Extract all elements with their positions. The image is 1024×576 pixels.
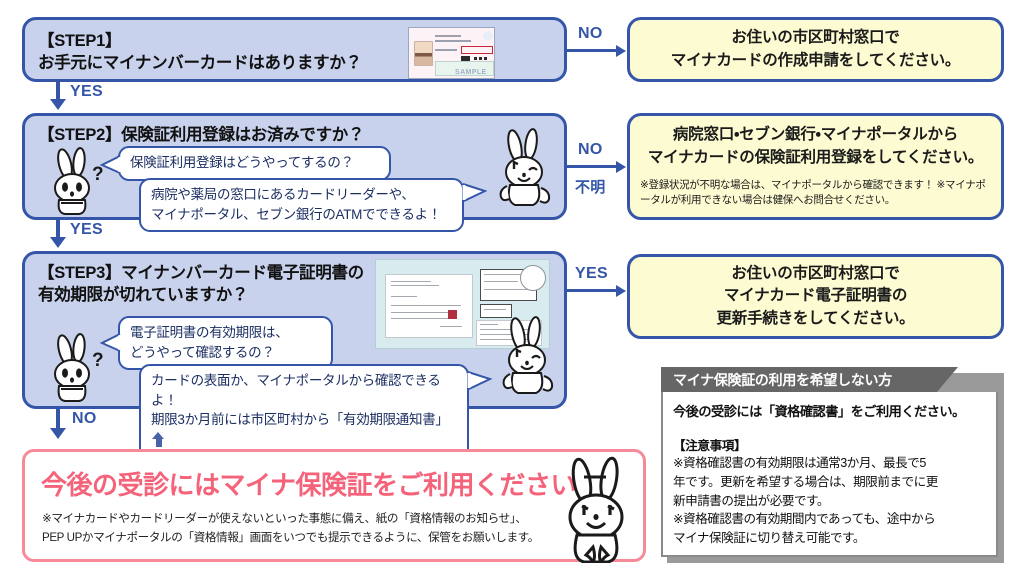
up-arrow-icon (152, 432, 165, 447)
answer1-box: お住いの市区町村窓口で マイナカードの作成申請をしてください。 (627, 17, 1004, 82)
arrow-step3-yes-line (567, 289, 618, 292)
card-line (435, 49, 457, 51)
notice-panel: マイナ保険証の利用を希望しない方 今後の受診には「資格確認書」をご利用ください。… (661, 367, 1004, 563)
bubble-tail-icon (99, 154, 121, 176)
arrow-step1-no-head (616, 45, 626, 57)
arrow-label-yes-1: YES (70, 83, 103, 101)
card-dot (474, 57, 477, 60)
step3-answer-line-1: カードの表面か、マイナポータルから確認できるよ！ (151, 371, 457, 410)
card-line (435, 35, 461, 37)
envelope-line (440, 326, 462, 327)
card-dot (479, 57, 482, 60)
step3-answer-line-2-text: 期限3か月前には市区町村から「有効期限通知書」 (151, 412, 449, 427)
step3-box: 【STEP3】マイナンバーカード電子証明書の 有効期限が切れていますか？ (22, 251, 567, 409)
notice-body-text: ※資格確認書の有効期限は通常3か月、最長で5 年です。更新を希望する場合は、期限… (673, 454, 987, 548)
envelope-line (391, 312, 451, 313)
conclusion-box: 今後の受診にはマイナ保険証をご利用ください ※マイナカードやカードリーダーが使え… (22, 449, 646, 562)
step3-answer-line-2: 期限3か月前には市区町村から「有効期限通知書」 (151, 410, 457, 449)
envelope-line (484, 309, 506, 310)
rabbit-answer-icon (488, 314, 568, 406)
mynumber-card-image: SAMPLE (408, 27, 495, 79)
arrow-label-no-2: NO (578, 141, 603, 159)
arrow-label-no-last: NO (72, 410, 97, 428)
step2-answer-bubble: 病院や薬局の窓口にあるカードリーダーや、 マイナポータル、セブン銀行のATMでで… (139, 178, 464, 232)
card-photo (414, 41, 433, 66)
notice-lead-post: をご利用ください。 (851, 404, 965, 419)
step2-question-bubble: 保険証利用登録はどうやってするの？ (118, 146, 391, 181)
arrow-label-no-1: NO (578, 25, 603, 43)
notice-header: マイナ保険証の利用を希望しない方 (661, 367, 937, 392)
step1-title: 【STEP1】 お手元にマイナンバーカードはありますか？ (38, 30, 362, 75)
answer2-text: 病院窓口・セブン銀行・マイナポータルから マイナカードの保険証利用登録をしてくだ… (648, 124, 983, 169)
arrow-label-yes-3: YES (575, 265, 608, 283)
step1-box: 【STEP1】 お手元にマイナンバーカードはありますか？ SAMPLE (22, 17, 567, 82)
card-emblem (483, 31, 493, 41)
step3-title: 【STEP3】マイナンバーカード電子証明書の 有効期限が切れていますか？ (38, 262, 364, 307)
arrow-label-fumei: 不明 (575, 176, 606, 197)
card-sample-label: SAMPLE (455, 69, 487, 76)
envelope-line (391, 281, 431, 282)
notice-lead-pre: 今後の受診には (673, 404, 762, 419)
step2-title: 【STEP2】保険証利用登録はお済みですか？ (38, 124, 364, 146)
card-dot (484, 57, 487, 60)
envelope-line (484, 281, 518, 282)
envelope-line (391, 285, 439, 286)
rabbit-answer-icon (485, 126, 565, 218)
envelope-red-stamp (448, 310, 457, 319)
answer2-box: 病院窓口・セブン銀行・マイナポータルから マイナカードの保険証利用登録をしてくだ… (627, 113, 1004, 220)
arrow-no-last-line (56, 409, 60, 430)
notice-body: 今後の受診には「資格確認書」をご利用ください。 【注意事項】 ※資格確認書の有効… (661, 392, 998, 557)
arrow-step3-yes-head (616, 285, 626, 297)
conclusion-note: ※マイナカードやカードリーダーが使えないといった事態に備え、紙の「資格情報のお知… (42, 509, 612, 547)
arrow-yes2-head (50, 237, 66, 248)
arrow-label-yes-2: YES (70, 221, 103, 239)
envelope-line (391, 296, 417, 297)
rabbit-large-icon (549, 455, 645, 563)
card-line (435, 40, 471, 42)
notice-lead-line: 今後の受診には「資格確認書」をご利用ください。 (673, 402, 987, 422)
step3-question-bubble: 電子証明書の有効期限は、 どうやって確認するの？ (118, 316, 333, 370)
arrow-no-last-head (50, 428, 66, 439)
notice-lead-strong: 「資格確認書」 (762, 404, 851, 419)
bubble-tail-icon (461, 182, 487, 206)
conclusion-title: 今後の受診にはマイナ保険証をご利用ください (41, 465, 576, 502)
answer3-text: お住いの市区町村窓口で マイナカード電子証明書の 更新手続きをしてください。 (717, 263, 915, 330)
envelope-line (484, 289, 531, 290)
bubble-tail-icon (99, 332, 121, 354)
envelope-postmark (520, 265, 546, 291)
flowchart-canvas: 【STEP1】 お手元にマイナンバーカードはありますか？ SAMPLE NO お… (0, 0, 1024, 576)
notice-subheading: 【注意事項】 (673, 435, 987, 454)
step2-box: 【STEP2】保険証利用登録はお済みですか？ ? 保険証利用登録はどうやってする… (22, 113, 567, 220)
arrow-step2-no-line (567, 165, 618, 168)
arrow-step2-no-head (616, 161, 626, 173)
arrow-step1-no-line (567, 49, 618, 52)
answer3-box: お住いの市区町村窓口で マイナカード電子証明書の 更新手続きをしてください。 (627, 254, 1004, 339)
card-highlight-box (461, 46, 493, 54)
answer2-note: ※登録状況が不明な場合は、マイナポータルから確認できます！ ※マイナポータルが利… (640, 178, 991, 208)
arrow-yes1-head (50, 99, 66, 110)
answer1-text: お住いの市区町村窓口で マイナカードの作成申請をしてください。 (671, 27, 960, 72)
envelope-line (391, 318, 451, 319)
envelope-line (391, 305, 461, 306)
